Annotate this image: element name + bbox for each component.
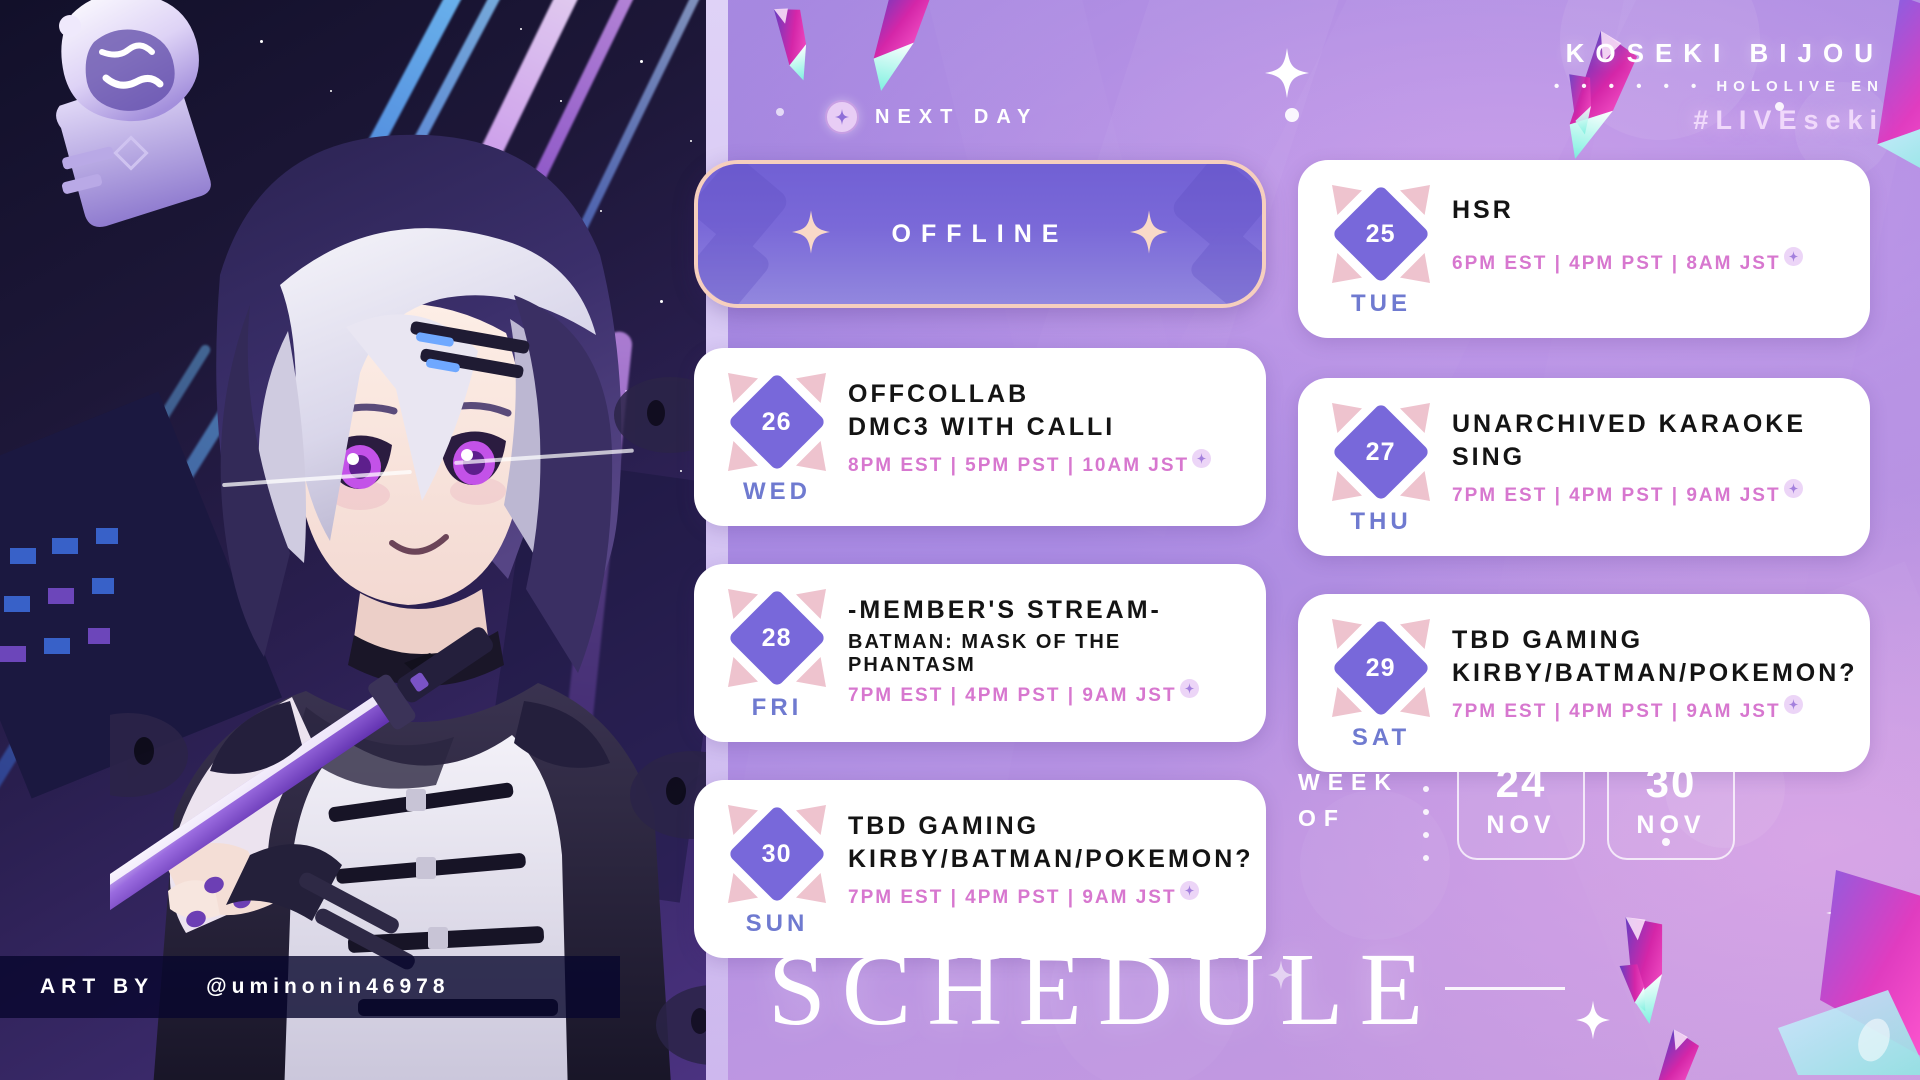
next-day-marker-icon [1180, 881, 1199, 900]
card-info: -MEMBER'S STREAM- BATMAN: MASK OF THE PH… [834, 586, 1240, 707]
stream-times: 7PM EST | 4PM PST | 9AM JST [1452, 485, 1803, 507]
week-start-box: 24 NOV [1457, 742, 1585, 860]
card-info: OFFCOLLAB DMC3 WITH CALLI 8PM EST | 5PM … [834, 370, 1240, 477]
next-day-marker-icon [1192, 449, 1211, 468]
stream-times-text: 7PM EST | 4PM PST | 9AM JST [848, 685, 1177, 707]
stream-title-line2: SING [1452, 441, 1844, 474]
offline-label: OFFLINE [892, 220, 1069, 249]
day-label: THU [1350, 508, 1411, 536]
next-day-marker-icon [1784, 479, 1803, 498]
stream-times-text: 7PM EST | 4PM PST | 9AM JST [848, 887, 1177, 909]
stream-times-text: 6PM EST | 4PM PST | 8AM JST [1452, 253, 1781, 275]
date-badge: 28 [725, 586, 829, 690]
next-day-marker-icon [1180, 679, 1199, 698]
stream-subtitle: BATMAN: MASK OF THE PHANTASM [848, 631, 1240, 677]
stream-title-line2: DMC3 WITH CALLI [848, 411, 1240, 444]
date-column: 29 SAT [1324, 616, 1438, 752]
sparkle-icon [1265, 48, 1309, 98]
date-badge: 29 [1329, 616, 1433, 720]
date-number: 28 [762, 624, 792, 653]
schedule-card-wed[interactable]: 26 WED OFFCOLLAB DMC3 WITH CALLI 8PM EST… [694, 348, 1266, 526]
sparkle-icon [825, 100, 859, 134]
brand-header: KOSEKI BIJOU • • • • • • HOLOLIVE EN #LI… [1364, 38, 1884, 136]
stream-times: 6PM EST | 4PM PST | 8AM JST [1452, 253, 1803, 275]
card-info: TBD GAMING KIRBY/BATMAN/POKEMON? 7PM EST… [1438, 616, 1858, 723]
character-art-panel: ART BY @uminonin46978 [0, 0, 706, 1080]
schedule-card-tue[interactable]: 25 TUE HSR 6PM EST | 4PM PST | 8AM JST [1298, 160, 1870, 338]
date-number: 30 [762, 840, 792, 869]
art-credit-bar: ART BY @uminonin46978 [0, 956, 620, 1018]
schedule-column-left: OFFLINE 26 WED [694, 160, 1266, 958]
stream-title-line1: OFFCOLLAB [848, 378, 1240, 411]
date-column: 30 SUN [720, 802, 834, 938]
sparkle-icon [1576, 1000, 1610, 1040]
schedule-card-fri[interactable]: 28 FRI -MEMBER'S STREAM- BATMAN: MASK OF… [694, 564, 1266, 742]
schedule-graphic: ART BY @uminonin46978 KOSEKI BIJOU • • •… [0, 0, 1920, 1080]
day-label: TUE [1351, 290, 1411, 318]
background-dot [1285, 108, 1299, 122]
week-start-day: 24 [1496, 762, 1547, 804]
art-credit-handle: @uminonin46978 [206, 975, 449, 999]
date-column: 27 THU [1324, 400, 1438, 536]
stream-title-line2: KIRBY/BATMAN/POKEMON? [1452, 657, 1858, 690]
schedule-column-right: 25 TUE HSR 6PM EST | 4PM PST | 8AM JST [1298, 160, 1870, 772]
schedule-title-text: SCHEDULE [768, 938, 1439, 1042]
next-day-marker-icon [1784, 695, 1803, 714]
schedule-grid: OFFLINE 26 WED [694, 160, 1886, 900]
date-badge: 25 [1329, 182, 1433, 286]
stream-times-text: 7PM EST | 4PM PST | 9AM JST [1452, 701, 1781, 723]
card-info: HSR 6PM EST | 4PM PST | 8AM JST [1438, 182, 1844, 275]
date-column: 26 WED [720, 370, 834, 506]
dotted-divider [1423, 740, 1429, 861]
stream-times: 7PM EST | 4PM PST | 9AM JST [1452, 701, 1803, 723]
week-of-label: WEEK OF [1298, 765, 1399, 836]
day-label: FRI [752, 694, 803, 722]
affiliation-row: • • • • • • HOLOLIVE EN [1364, 78, 1884, 95]
stream-title-line2: KIRBY/BATMAN/POKEMON? [848, 843, 1254, 876]
week-of-label-line1: WEEK [1298, 765, 1399, 801]
next-day-legend: NEXT DAY [825, 100, 1038, 134]
hashtag: #LIVEseki [1364, 105, 1884, 136]
talent-name: KOSEKI BIJOU [1364, 38, 1884, 69]
character-illustration [110, 95, 706, 1080]
crystal-decoration [1778, 870, 1920, 1080]
date-column: 25 TUE [1324, 182, 1438, 318]
stream-title-line1: TBD GAMING [848, 810, 1254, 843]
stream-times: 7PM EST | 4PM PST | 9AM JST [848, 887, 1199, 909]
week-end-box: 30 NOV [1607, 742, 1735, 860]
date-badge: 27 [1329, 400, 1433, 504]
date-number: 27 [1366, 438, 1396, 467]
sparkle-icon [1130, 209, 1168, 260]
date-number: 26 [762, 408, 792, 437]
schedule-card-thu[interactable]: 27 THU UNARCHIVED KARAOKE SING 7PM EST |… [1298, 378, 1870, 556]
next-day-label: NEXT DAY [875, 106, 1038, 129]
stream-times: 7PM EST | 4PM PST | 9AM JST [848, 685, 1199, 707]
bullet-decoration: • • • • • • [1554, 78, 1705, 95]
sparkle-icon [792, 209, 830, 260]
stream-title-line1: TBD GAMING [1452, 624, 1858, 657]
stream-times: 8PM EST | 5PM PST | 10AM JST [848, 455, 1211, 477]
art-credit-label: ART BY [40, 975, 154, 999]
date-column: 28 FRI [720, 586, 834, 722]
stream-title-line1: UNARCHIVED KARAOKE [1452, 408, 1844, 441]
stream-times-text: 7PM EST | 4PM PST | 9AM JST [1452, 485, 1781, 507]
stream-times-text: 8PM EST | 5PM PST | 10AM JST [848, 455, 1189, 477]
background-dot [776, 108, 784, 116]
affiliation-label: HOLOLIVE EN [1716, 78, 1884, 95]
date-number: 25 [1366, 220, 1396, 249]
week-start-month: NOV [1486, 811, 1555, 840]
title-rule [1445, 987, 1565, 990]
stream-title-line1: -MEMBER'S STREAM- [848, 594, 1240, 627]
card-info: TBD GAMING KIRBY/BATMAN/POKEMON? 7PM EST… [834, 802, 1254, 909]
date-number: 29 [1366, 654, 1396, 683]
week-end-month: NOV [1636, 811, 1705, 840]
date-badge: 30 [725, 802, 829, 906]
stream-title-line1: HSR [1452, 194, 1844, 227]
card-info: UNARCHIVED KARAOKE SING 7PM EST | 4PM PS… [1438, 400, 1844, 507]
schedule-title: SCHEDULE [768, 938, 1565, 1042]
week-end-day: 30 [1646, 762, 1697, 804]
date-badge: 26 [725, 370, 829, 474]
next-day-marker-icon [1784, 247, 1803, 266]
week-of-block: WEEK OF 24 NOV 30 NOV [1298, 740, 1735, 861]
week-of-label-line2: OF [1298, 801, 1399, 837]
offline-banner[interactable]: OFFLINE [694, 160, 1266, 308]
day-label: WED [743, 478, 811, 506]
